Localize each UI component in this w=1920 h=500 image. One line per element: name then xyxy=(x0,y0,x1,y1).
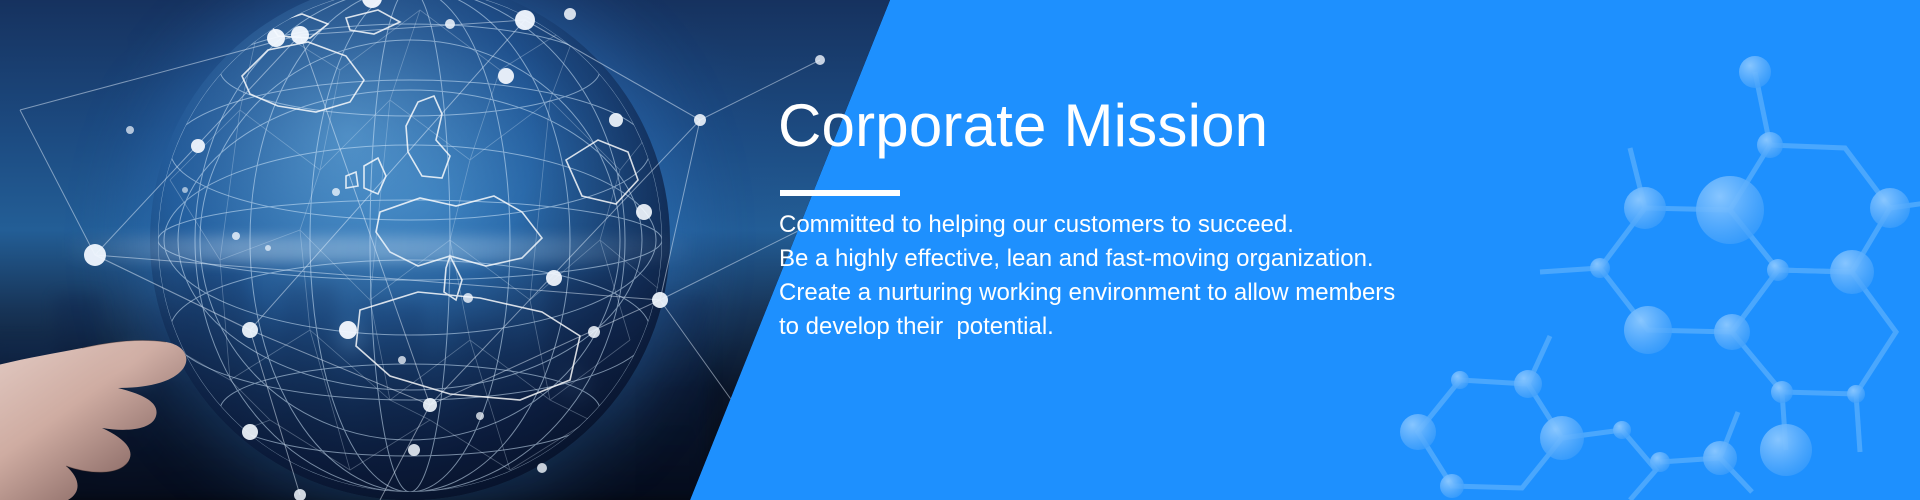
corporate-mission-banner: Corporate Mission Committed to helping o… xyxy=(0,0,1920,500)
mission-line: to develop their potential. xyxy=(779,310,1395,344)
hand-silhouette xyxy=(0,260,300,500)
title-divider xyxy=(780,190,900,196)
mission-line: Committed to helping our customers to su… xyxy=(779,208,1395,242)
light-streak xyxy=(60,236,700,262)
mission-line: Be a highly effective, lean and fast-mov… xyxy=(779,242,1395,276)
mission-statement: Committed to helping our customers to su… xyxy=(779,208,1395,344)
mission-content: Corporate Mission Committed to helping o… xyxy=(778,0,1678,500)
page-title: Corporate Mission xyxy=(778,94,1268,157)
mission-line: Create a nurturing working environment t… xyxy=(779,276,1395,310)
